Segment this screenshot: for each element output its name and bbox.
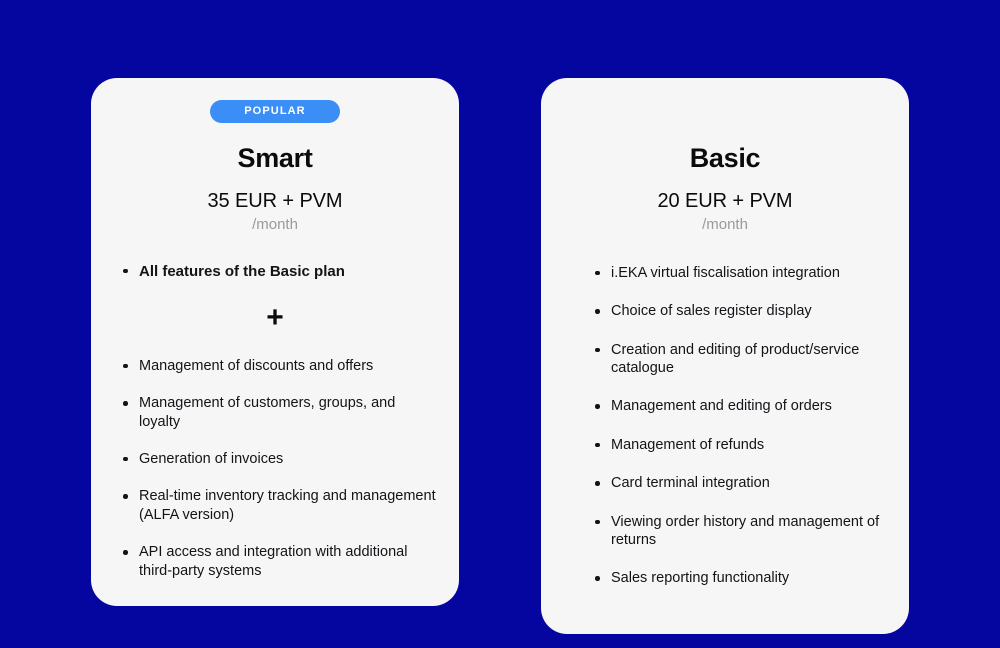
popular-badge: POPULAR: [210, 100, 339, 123]
list-item: API access and integration with addition…: [113, 543, 437, 580]
list-item: Real-time inventory tracking and managem…: [113, 487, 437, 524]
feature-list-smart-highlight: All features of the Basic plan: [113, 262, 437, 281]
list-item: Card terminal integration: [585, 474, 887, 492]
feature-list-smart: Management of discounts and offers Manag…: [113, 357, 437, 580]
list-item: All features of the Basic plan: [113, 262, 437, 281]
list-item: Management and editing of orders: [585, 397, 887, 415]
list-item: Choice of sales register display: [585, 302, 887, 320]
list-item: i.EKA virtual fiscalisation integration: [585, 264, 887, 282]
plus-icon: +: [266, 303, 284, 333]
plan-period-smart: /month: [252, 216, 298, 234]
plus-separator: +: [113, 303, 437, 333]
badge-slot-smart: POPULAR: [113, 96, 437, 126]
badge-slot-basic: [563, 96, 887, 126]
list-item: Generation of invoices: [113, 450, 437, 468]
list-item: Sales reporting functionality: [585, 569, 887, 587]
pricing-plans-container: POPULAR Smart 35 EUR + PVM /month All fe…: [0, 0, 1000, 648]
plan-period-basic: /month: [702, 216, 748, 234]
plan-card-smart[interactable]: POPULAR Smart 35 EUR + PVM /month All fe…: [91, 78, 459, 606]
list-item: Management of refunds: [585, 436, 887, 454]
list-item: Creation and editing of product/service …: [585, 341, 887, 378]
feature-list-basic: i.EKA virtual fiscalisation integration …: [563, 264, 887, 608]
plan-title-basic: Basic: [690, 144, 761, 174]
plan-price-basic: 20 EUR + PVM: [658, 190, 793, 212]
plan-title-smart: Smart: [237, 144, 312, 174]
list-item: Management of customers, groups, and loy…: [113, 394, 437, 431]
list-item: Management of discounts and offers: [113, 357, 437, 375]
plan-price-smart: 35 EUR + PVM: [208, 190, 343, 212]
plan-card-basic[interactable]: Basic 20 EUR + PVM /month i.EKA virtual …: [541, 78, 909, 634]
list-item: Viewing order history and management of …: [585, 513, 887, 550]
